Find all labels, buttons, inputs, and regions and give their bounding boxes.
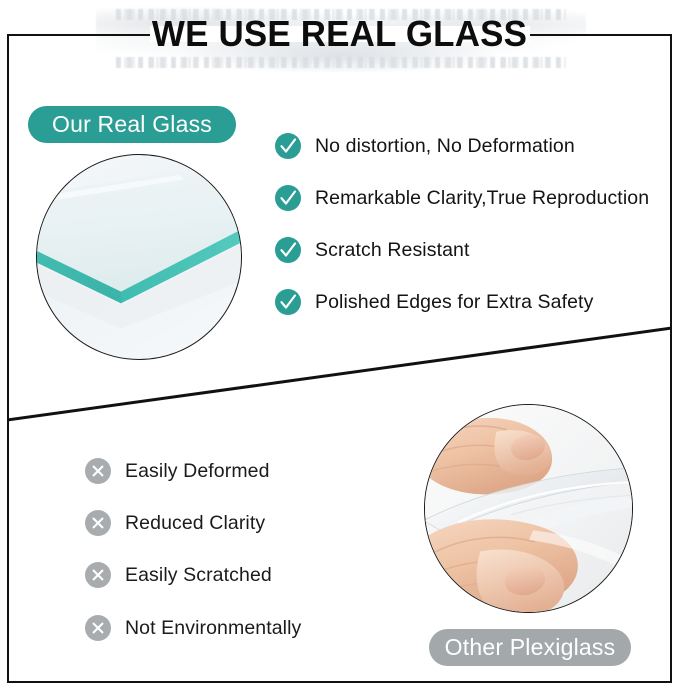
check-icon [275, 237, 301, 263]
pro-item-1-label: No distortion, No Deformation [315, 135, 575, 158]
con-item-3: Easily Scratched [85, 562, 272, 588]
con-item-3-label: Easily Scratched [125, 564, 272, 587]
pro-item-3: Scratch Resistant [275, 237, 470, 263]
pro-item-1: No distortion, No Deformation [275, 133, 575, 159]
badge-our-real-glass-label: Our Real Glass [52, 111, 212, 138]
badge-other-plexiglass-label: Other Plexiglass [445, 634, 616, 661]
pro-item-4-label: Polished Edges for Extra Safety [315, 291, 593, 314]
check-icon [275, 185, 301, 211]
pro-item-3-label: Scratch Resistant [315, 239, 470, 262]
plexiglass-photo [424, 404, 633, 613]
con-item-1-label: Easily Deformed [125, 460, 270, 483]
con-item-2-label: Reduced Clarity [125, 512, 265, 535]
x-icon [85, 458, 111, 484]
page-title: WE USE REAL GLASS [10, 13, 669, 55]
x-icon [85, 510, 111, 536]
infographic-root: WE USE REAL GLASS Our Real Glass [0, 0, 679, 691]
check-icon [275, 133, 301, 159]
badge-other-plexiglass: Other Plexiglass [429, 629, 631, 666]
bending-plexiglass-illustration [424, 404, 633, 613]
badge-our-real-glass: Our Real Glass [28, 106, 236, 143]
x-icon [85, 562, 111, 588]
x-icon [85, 615, 111, 641]
pro-item-2-label: Remarkable Clarity,True Reproduction [315, 187, 649, 210]
con-item-4-label: Not Environmentally [125, 617, 301, 640]
check-icon [275, 289, 301, 315]
con-item-1: Easily Deformed [85, 458, 270, 484]
con-item-4: Not Environmentally [85, 615, 301, 641]
glass-slab-illustration [36, 163, 242, 338]
real-glass-photo [36, 154, 242, 360]
pro-item-4: Polished Edges for Extra Safety [275, 289, 593, 315]
con-item-2: Reduced Clarity [85, 510, 265, 536]
pro-item-2: Remarkable Clarity,True Reproduction [275, 185, 649, 211]
